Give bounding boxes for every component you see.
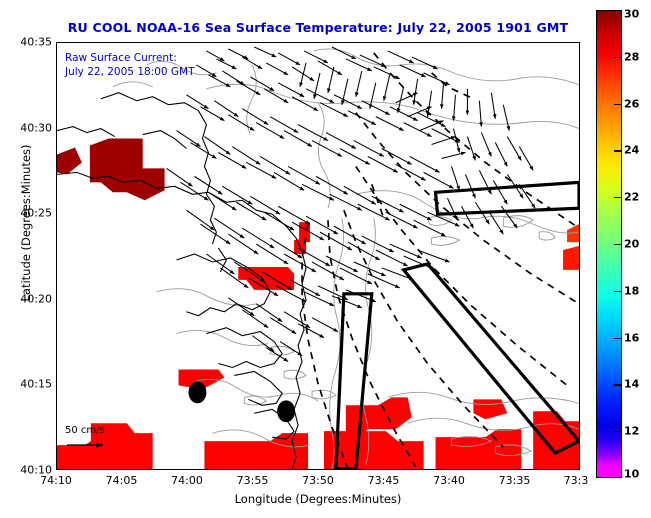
colorbar-tick-12: 12 xyxy=(624,425,639,438)
x-tick-1: 74:05 xyxy=(106,474,138,487)
sst-patch-raritan xyxy=(90,139,165,201)
colorbar-tick-30: 30 xyxy=(624,8,639,21)
dashed-track-layer xyxy=(302,53,579,469)
y-tick-0: 40:35 xyxy=(20,36,52,49)
vector-scale-legend: 50 cm/s xyxy=(65,425,111,454)
x-tick-5: 73:45 xyxy=(368,474,400,487)
surface-current-vector-layer xyxy=(167,47,536,362)
y-axis-label: Latitude (Degrees:Minutes) xyxy=(19,113,33,333)
vector-scale-label: 50 cm/s xyxy=(65,425,111,437)
sst-patch-west-edge xyxy=(57,148,82,175)
x-tick-2: 74:00 xyxy=(171,474,203,487)
shipping-lane-north[interactable] xyxy=(436,182,579,214)
colorbar-tick-24: 24 xyxy=(624,144,639,157)
vector-scale-arrow xyxy=(65,440,111,454)
sst-patch-south-e xyxy=(436,429,522,469)
x-axis-label: Longitude (Degrees:Minutes) xyxy=(56,492,580,506)
colorbar-tick-10: 10 xyxy=(624,468,639,481)
colorbar-tick-18: 18 xyxy=(624,284,639,297)
x-tick-8: 73:3 xyxy=(564,474,589,487)
sst-figure: RU COOL NOAA-16 Sea Surface Temperature:… xyxy=(0,0,651,518)
station-marker-layer[interactable] xyxy=(188,381,295,422)
sst-patch-south-f xyxy=(533,411,579,469)
colorbar-tick-20: 20 xyxy=(624,238,639,251)
page-title: RU COOL NOAA-16 Sea Surface Temperature:… xyxy=(56,20,580,35)
x-tick-7: 73:35 xyxy=(499,474,531,487)
colorbar[interactable]: 30 28 26 24 22 20 18 16 14 12 10 xyxy=(596,10,622,478)
map-canvas xyxy=(57,43,579,469)
y-tick-4: 40:15 xyxy=(20,378,52,391)
station-marker-east[interactable] xyxy=(277,400,295,422)
sst-patch-east-b xyxy=(563,246,579,270)
colorbar-tick-14: 14 xyxy=(624,378,639,391)
map-plot-area[interactable]: Raw Surface Current: July 22, 2005 18:00… xyxy=(56,42,580,470)
colorbar-tick-16: 16 xyxy=(624,331,639,344)
station-marker-west[interactable] xyxy=(188,381,206,403)
colorbar-tick-22: 22 xyxy=(624,191,639,204)
x-tick-6: 73:40 xyxy=(433,474,465,487)
colorbar-tick-26: 26 xyxy=(624,97,639,110)
colorbar-tick-28: 28 xyxy=(624,50,639,63)
x-tick-3: 73:55 xyxy=(237,474,269,487)
x-tick-4: 73:50 xyxy=(302,474,334,487)
sst-patch-south-g xyxy=(473,399,507,419)
y-tick-5: 40:10 xyxy=(20,464,52,477)
